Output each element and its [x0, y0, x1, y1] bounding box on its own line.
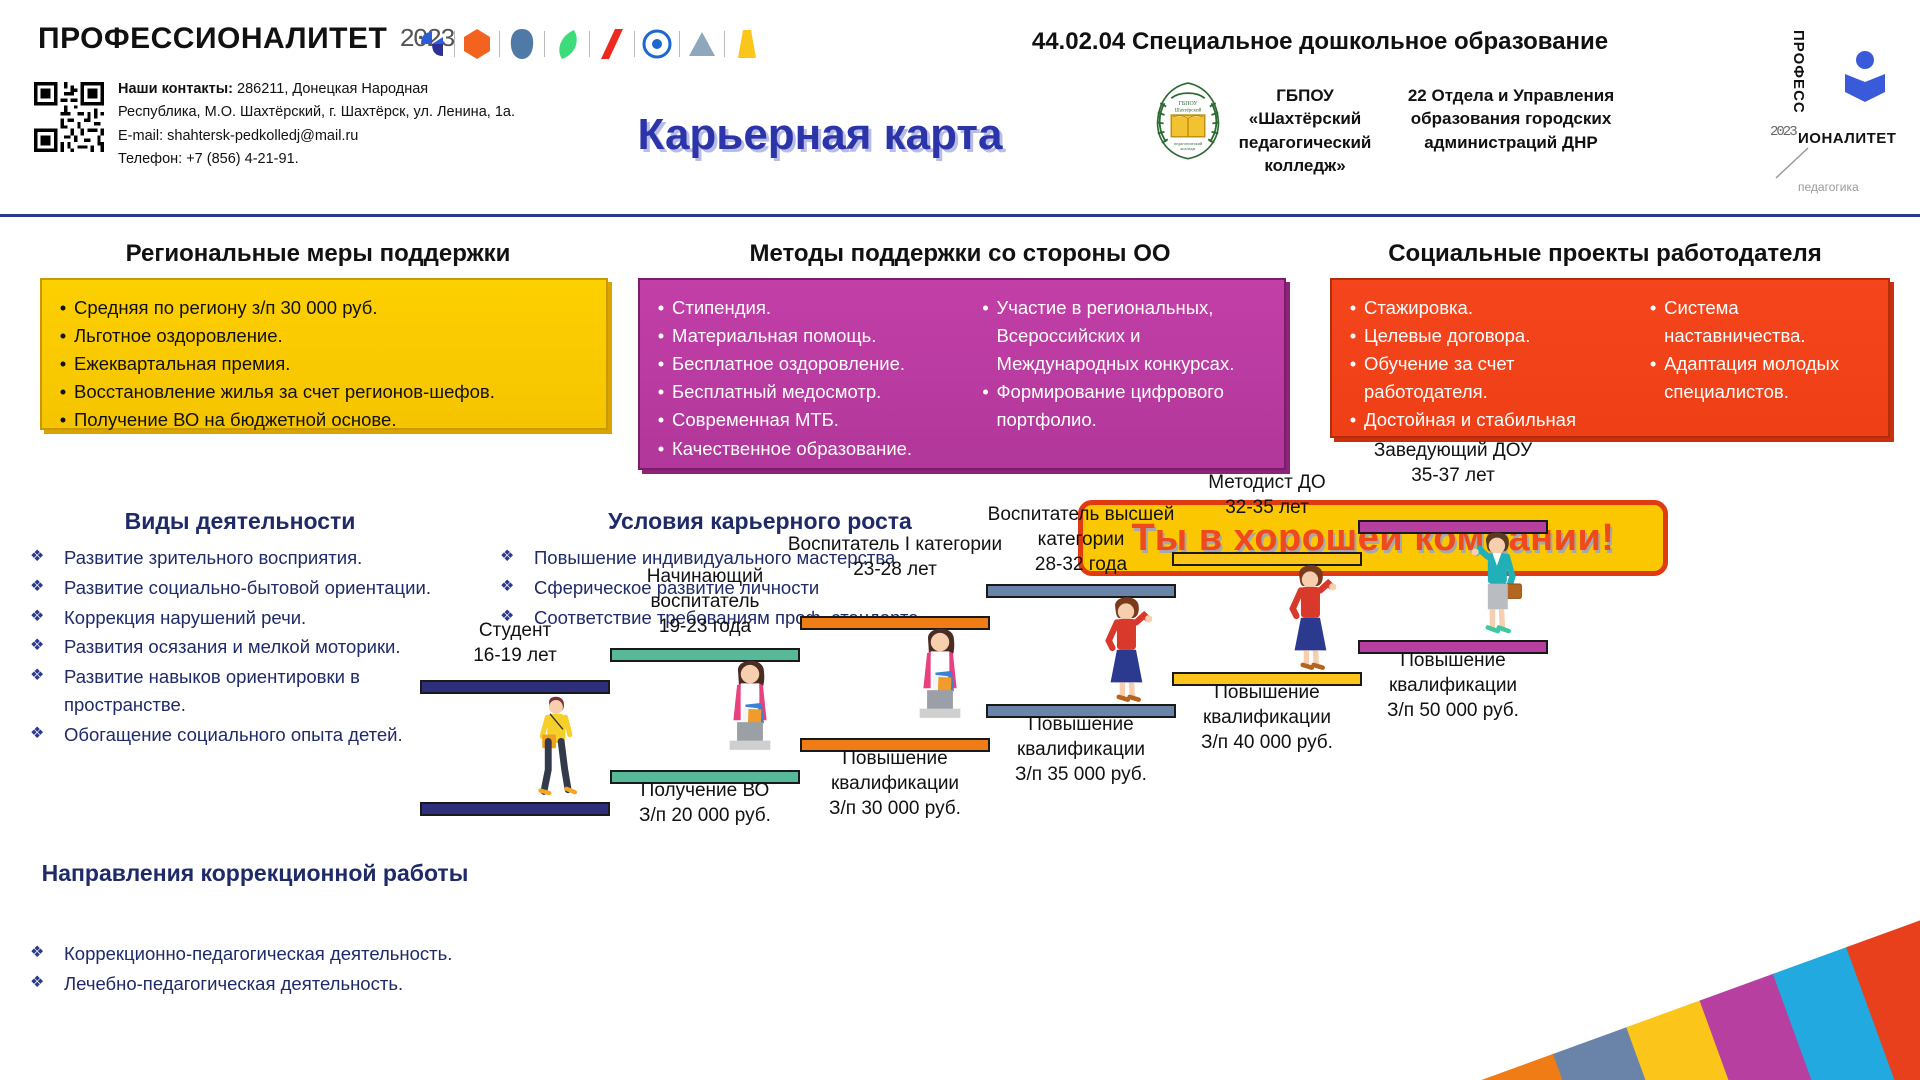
card-oo-methods: •Стипендия.•Материальная помощь.•Бесплат…: [638, 278, 1286, 470]
list-item-label: Лечебно-педагогическая деятельность.: [64, 970, 480, 998]
card-oo-list-1: •Стипендия.•Материальная помощь.•Бесплат…: [650, 294, 974, 458]
step-role: Заведующий ДОУ: [1344, 438, 1562, 463]
departments-count: 22 Отдела и Управления образования город…: [1386, 84, 1636, 154]
heading-growth: Условия карьерного роста: [500, 508, 1020, 535]
brand-right-year: 2023: [1770, 124, 1796, 140]
step-salary: З/п 35 000 руб.: [972, 762, 1190, 787]
card-employer-list-2: •Система наставничества.•Адаптация молод…: [1642, 294, 1878, 426]
step-title-label: Начинающий воспитатель19-23 года: [596, 564, 814, 639]
heading-correctional: Направления коррекционной работы: [30, 860, 480, 887]
svg-text:ГБПОУ: ГБПОУ: [1178, 101, 1198, 107]
list-item-label: Развитие зрительного восприятия.: [64, 544, 480, 572]
step-detail-label: Получение ВОЗ/п 20 000 руб.: [596, 778, 814, 828]
leaf-green-icon: [545, 24, 589, 64]
list-item-label: Получение ВО на бюджетной основе.: [74, 406, 596, 434]
specialty-title: 44.02.04 Специальное дошкольное образова…: [960, 28, 1680, 56]
bullet-dot-icon: •: [1342, 350, 1364, 378]
list-item: •Стажировка.: [1342, 294, 1642, 322]
list-item: •Бесплатный медосмотр.: [650, 378, 974, 406]
diamond-bullet-icon: ❖: [30, 633, 64, 658]
step-detail-label: ПовышениеквалификацииЗ/п 50 000 руб.: [1344, 648, 1562, 723]
list-item-label: Бесплатное оздоровление.: [672, 350, 974, 378]
card-regional-list: •Средняя по региону з/п 30 000 руб.•Льго…: [52, 294, 596, 418]
bullet-dot-icon: •: [974, 378, 996, 406]
bullet-dot-icon: •: [650, 322, 672, 350]
list-item: •Участие в региональных, Всероссийских и…: [974, 294, 1274, 378]
list-item: •Ежеквартальная премия.: [52, 350, 596, 378]
bullet-dot-icon: •: [52, 378, 74, 406]
book-person-icon: [1842, 50, 1888, 104]
step-role: Начинающий воспитатель: [596, 564, 814, 614]
list-item-label: Льготное оздоровление.: [74, 322, 596, 350]
card-regional-support: •Средняя по региону з/п 30 000 руб.•Льго…: [40, 278, 608, 430]
heading-oo-methods: Методы поддержки со стороны ОО: [630, 240, 1290, 268]
step-salary: З/п 20 000 руб.: [596, 803, 814, 828]
person-figure-teacher-books: [710, 652, 790, 772]
list-item-label: Обогащение социального опыта детей.: [64, 721, 480, 749]
diamond-bullet-icon: ❖: [30, 940, 64, 965]
step-age: 19-23 года: [596, 614, 814, 639]
list-item-label: Формирование цифрового портфолио.: [996, 378, 1274, 434]
circle-target-blue-icon: [635, 24, 679, 64]
card-employer-list-1: •Стажировка.•Целевые договора.•Обучение …: [1342, 294, 1642, 426]
list-item: ❖Обогащение социального опыта детей.: [30, 721, 480, 749]
card-oo-list-2: •Участие в региональных, Всероссийских и…: [974, 294, 1274, 458]
list-item: ❖Развитие социально-бытовой ориентации.: [30, 574, 480, 602]
step-age: 32-35 лет: [1158, 495, 1376, 520]
diamond-bullet-icon: ❖: [30, 544, 64, 569]
step-sub-line-1: Получение ВО: [596, 778, 814, 803]
list-item: •Система наставничества.: [1642, 294, 1878, 350]
list-item-label: Система наставничества.: [1664, 294, 1878, 350]
step-title-label: Студент16-19 лет: [406, 618, 624, 668]
step-role: Студент: [406, 618, 624, 643]
brand-right-vertical: ПРОФЕСС: [1790, 30, 1807, 114]
list-item: •Качественное образование.: [650, 435, 974, 463]
list-item-label: Развитие социально-бытовой ориентации.: [64, 574, 480, 602]
step-bar-bottom: [420, 802, 610, 816]
bullet-dot-icon: •: [650, 294, 672, 322]
contacts-label: Наши контакты:: [118, 81, 233, 97]
slash-decoration-icon: [1774, 146, 1814, 180]
page-title: Карьерная карта: [610, 110, 1030, 160]
bullet-dot-icon: •: [1342, 322, 1364, 350]
contacts-block: Наши контакты: 286211, Донецкая Народная…: [118, 78, 538, 172]
list-item: •Формирование цифрового портфолио.: [974, 378, 1274, 434]
step-salary: З/п 40 000 руб.: [1158, 730, 1376, 755]
diamond-bullet-icon: ❖: [30, 721, 64, 746]
step-title-label: Заведующий ДОУ35-37 лет: [1344, 438, 1562, 488]
step-salary: З/п 30 000 руб.: [786, 796, 1004, 821]
stripe-group: [1220, 890, 1920, 1080]
professionalitet-logo: ПРОФЕССИОНАЛИТЕТ 2023: [38, 22, 454, 56]
brand-right-horizontal: ИОНАЛИТЕТ: [1798, 130, 1896, 147]
list-item-label: Участие в региональных, Всероссийских и …: [996, 294, 1274, 378]
list-item: •Адаптация молодых специалистов.: [1642, 350, 1878, 406]
step-sub-line-1: Повышение: [1344, 648, 1562, 673]
card-employer-projects: •Стажировка.•Целевые договора.•Обучение …: [1330, 278, 1890, 438]
contacts-line-4: Телефон: +7 (856) 4-21-91.: [118, 148, 538, 171]
list-item-label: Целевые договора.: [1364, 322, 1642, 350]
person-figure-teacher-red: [1270, 556, 1350, 674]
bullet-dot-icon: •: [1342, 294, 1364, 322]
decorative-stripes: [1220, 890, 1920, 1080]
pinwheel-blue-icon: [410, 24, 454, 64]
blob-steel-icon: [500, 24, 544, 64]
person-figure-student: [516, 688, 596, 800]
list-item-label: Коррекционно-педагогическая деятельность…: [64, 940, 480, 968]
list-item: ❖Коррекционно-педагогическая деятельност…: [30, 940, 480, 968]
correctional-list-wrap: ❖Коррекционно-педагогическая деятельност…: [30, 940, 480, 1000]
list-item-label: Ежеквартальная премия.: [74, 350, 596, 378]
diamond-bullet-icon: ❖: [500, 544, 534, 569]
list-item-label: Материальная помощь.: [672, 322, 974, 350]
list-item: ❖Развитие зрительного восприятия.: [30, 544, 480, 572]
step-age: 28-32 года: [972, 552, 1190, 577]
list-item-label: Стажировка.: [1364, 294, 1642, 322]
list-item: •Получение ВО на бюджетной основе.: [52, 406, 596, 434]
triangle-steel-icon: [680, 24, 724, 64]
list-item: •Восстановление жилья за счет регионов-ш…: [52, 378, 596, 406]
bullet-dot-icon: •: [650, 406, 672, 434]
list-item-label: Развитие навыков ориентировки в простран…: [64, 663, 480, 719]
diamond-bullet-icon: ❖: [30, 604, 64, 629]
step-age: 16-19 лет: [406, 643, 624, 668]
list-item: •Льготное оздоровление.: [52, 322, 596, 350]
contacts-line-2: Республика, М.О. Шахтёрский, г. Шахтёрск…: [118, 101, 538, 124]
hexagon-orange-icon: [455, 24, 499, 64]
contacts-line-3: E-mail: shahtersk-pedkolledj@mail.ru: [118, 125, 538, 148]
diamond-bullet-icon: ❖: [30, 663, 64, 688]
bullet-dot-icon: •: [52, 350, 74, 378]
brand-wordmark: ПРОФЕССИОНАЛИТЕТ: [38, 22, 387, 56]
professionalitet-right-logo: ПРОФЕСС ИОНАЛИТЕТ 2023 педагогика: [1790, 26, 1910, 196]
list-item-label: Обучение за счет работодателя.: [1364, 350, 1642, 406]
brand-right-caption: педагогика: [1798, 180, 1859, 194]
list-item: ❖Развитие навыков ориентировки в простра…: [30, 663, 480, 719]
correctional-list: ❖Коррекционно-педагогическая деятельност…: [30, 940, 480, 998]
step-age: 35-37 лет: [1344, 463, 1562, 488]
list-item: •Обучение за счет работодателя.: [1342, 350, 1642, 406]
list-item-label: Восстановление жилья за счет регионов-ше…: [74, 378, 596, 406]
shape-icon-row: [410, 24, 769, 64]
list-item-label: Бесплатный медосмотр.: [672, 378, 974, 406]
list-item-label: Адаптация молодых специалистов.: [1664, 350, 1878, 406]
header-divider: [0, 214, 1920, 217]
step-salary: З/п 50 000 руб.: [1344, 698, 1562, 723]
heading-regional-support: Региональные меры поддержки: [38, 240, 598, 268]
person-figure-director-teal: [1456, 524, 1536, 642]
college-crest-icon: ГБПОУ Шахтёрский педагогический колледж: [1146, 78, 1230, 162]
qr-code: [34, 82, 104, 152]
bullet-dot-icon: •: [650, 435, 672, 463]
list-item: •Стипендия.: [650, 294, 974, 322]
list-item-label: Стипендия.: [672, 294, 974, 322]
heading-activities: Виды деятельности: [30, 508, 450, 535]
poster-root: ПРОФЕССИОНАЛИТЕТ 2023: [0, 0, 1920, 1080]
bullet-dot-icon: •: [52, 322, 74, 350]
person-figure-teacher-red: [1086, 588, 1166, 706]
list-item: •Бесплатное оздоровление.: [650, 350, 974, 378]
parallelogram-red-icon: [590, 24, 634, 64]
diamond-bullet-icon: ❖: [30, 970, 64, 995]
college-name: ГБПОУ «Шахтёрский педагогический колледж…: [1236, 84, 1374, 178]
list-item-label: Средняя по региону з/п 30 000 руб.: [74, 294, 596, 322]
heading-employer-projects: Социальные проекты работодателя: [1320, 240, 1890, 268]
bullet-dot-icon: •: [974, 294, 996, 322]
bullet-dot-icon: •: [52, 294, 74, 322]
list-item: •Современная МТБ.: [650, 406, 974, 434]
list-item: •Средняя по региону з/п 30 000 руб.: [52, 294, 596, 322]
svg-text:колледж: колледж: [1181, 146, 1196, 151]
diamond-bullet-icon: ❖: [30, 574, 64, 599]
bullet-dot-icon: •: [1642, 294, 1664, 322]
person-figure-teacher-books-pink: [900, 620, 980, 740]
list-item: •Материальная помощь.: [650, 322, 974, 350]
bullet-dot-icon: •: [52, 406, 74, 434]
svg-text:Шахтёрский: Шахтёрский: [1175, 107, 1202, 114]
bullet-dot-icon: •: [650, 378, 672, 406]
list-item-label: Современная МТБ.: [672, 406, 974, 434]
list-item-label: Качественное образование.: [672, 435, 974, 463]
step-sub-line-2: квалификации: [1344, 673, 1562, 698]
list-item: ❖Лечебно-педагогическая деятельность.: [30, 970, 480, 998]
bullet-dot-icon: •: [1642, 350, 1664, 378]
bullet-dot-icon: •: [650, 350, 672, 378]
trapezoid-yellow-icon: [725, 24, 769, 64]
list-item: •Целевые договора.: [1342, 322, 1642, 350]
contacts-line-1: 286211, Донецкая Народная: [233, 81, 428, 97]
bullet-dot-icon: •: [1342, 406, 1364, 434]
